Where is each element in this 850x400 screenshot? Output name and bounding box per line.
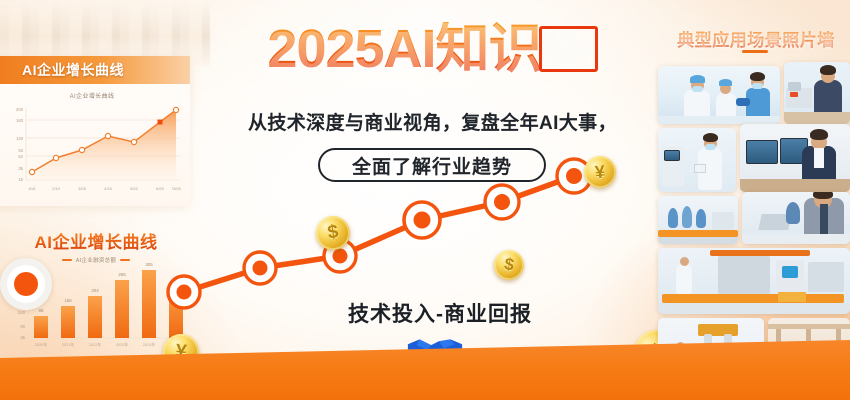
photo-engineer-laptop[interactable] <box>742 192 850 244</box>
photo-doctors-consult[interactable] <box>658 66 780 124</box>
svg-text:15: 15 <box>18 177 23 182</box>
photo-wall <box>652 0 850 400</box>
svg-text:265: 265 <box>118 272 126 277</box>
svg-text:93: 93 <box>18 148 23 153</box>
photo-wall-title: 典型应用场景照片墙 <box>660 26 850 51</box>
svg-text:98: 98 <box>39 308 44 313</box>
left-top-card-title: AI企业增长曲线 <box>22 60 124 80</box>
photo-medical-equipment[interactable] <box>658 128 736 192</box>
svg-text:2/10: 2/10 <box>52 186 61 191</box>
poster-headline: 2025AI知识圈 <box>196 22 666 76</box>
svg-text:2023年: 2023年 <box>116 342 128 347</box>
svg-text:4/15: 4/15 <box>104 186 113 191</box>
accent-dot-marker <box>0 258 52 310</box>
headline-boxed-text: 圈 <box>542 22 595 76</box>
svg-text:35: 35 <box>20 335 25 340</box>
svg-text:155: 155 <box>64 298 72 303</box>
photo-office-workstation[interactable] <box>740 124 850 192</box>
svg-text:120: 120 <box>16 136 24 141</box>
trend-pill-label: 全面了解行业趋势 <box>352 152 512 179</box>
svg-text:3/05: 3/05 <box>78 186 87 191</box>
svg-text:240: 240 <box>18 310 26 315</box>
photo-lab-technician[interactable] <box>784 62 850 124</box>
svg-text:62: 62 <box>18 154 23 159</box>
left-top-card-header: AI企业增长曲线 <box>0 56 190 84</box>
trend-pill-badge[interactable]: 全面了解行业趋势 <box>318 148 546 182</box>
svg-text:2022年: 2022年 <box>89 342 101 347</box>
svg-text:2021年: 2021年 <box>62 342 74 347</box>
poster-canvas: AI企业增长曲线 AI企业增长曲线 200160 12093 6235 <box>0 0 850 400</box>
poster-subline: 从技术深度与商业视角，复盘全年AI大事， <box>190 108 675 135</box>
svg-text:2024年: 2024年 <box>143 342 155 347</box>
roi-caption: 技术投入-商业回报 <box>300 298 580 328</box>
photo-wall-underline <box>742 50 768 53</box>
left-top-chart-caption: AI企业增长曲线 <box>0 84 190 100</box>
svg-text:90: 90 <box>20 324 25 329</box>
svg-text:5/02: 5/02 <box>130 186 139 191</box>
svg-text:204: 204 <box>91 288 99 293</box>
photo-cleanroom-team[interactable] <box>658 196 738 244</box>
headline-main-text: 2025AI知识 <box>267 19 541 79</box>
svg-text:618: 618 <box>29 186 36 191</box>
svg-text:160: 160 <box>16 118 24 123</box>
svg-text:35: 35 <box>18 166 23 171</box>
svg-text:200: 200 <box>16 107 24 112</box>
photo-production-line[interactable] <box>658 248 850 314</box>
accent-dot-core <box>14 272 38 296</box>
svg-text:2020年: 2020年 <box>35 342 47 347</box>
